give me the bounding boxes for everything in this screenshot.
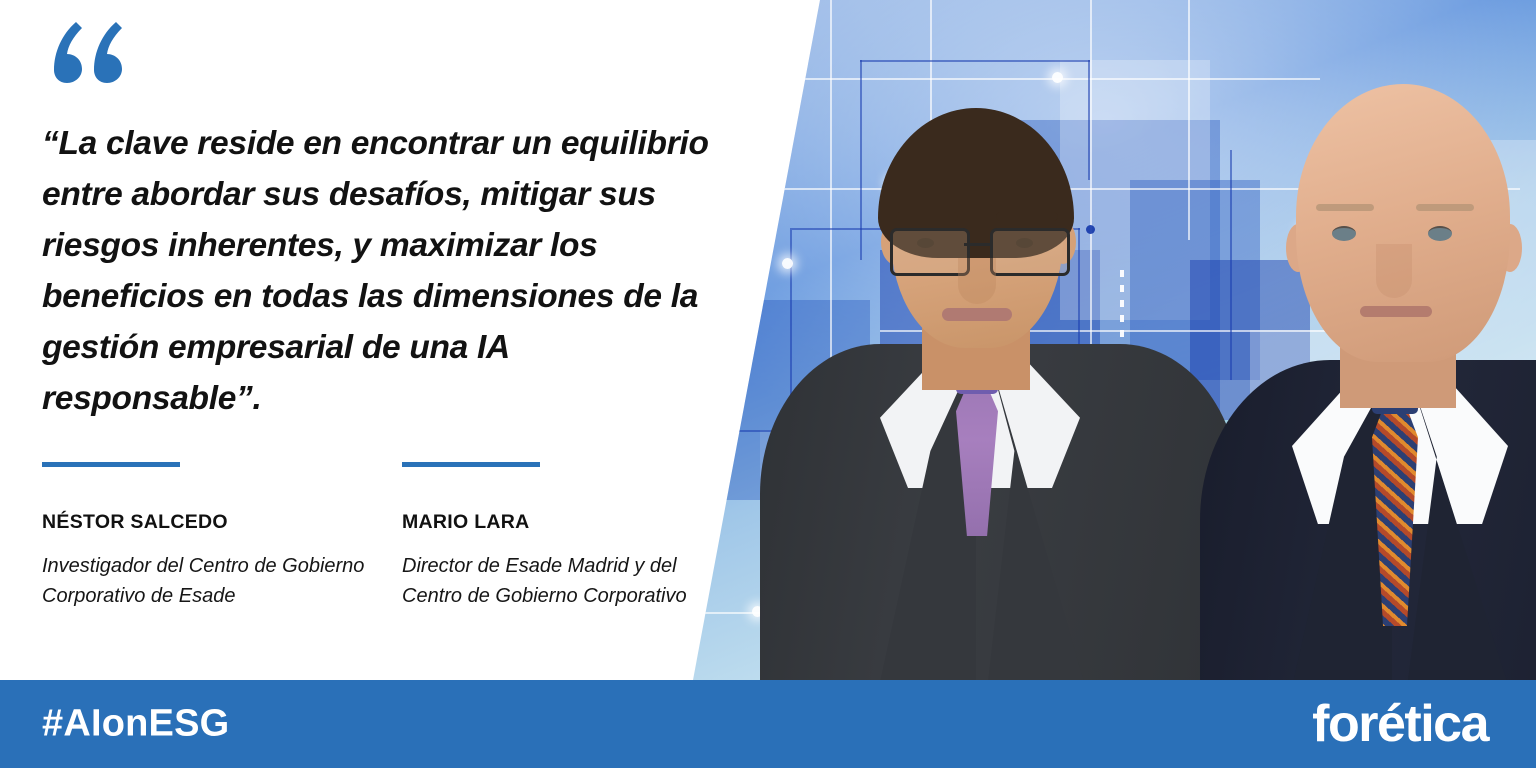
- glasses-bridge: [964, 243, 990, 246]
- eyebrow-left: [896, 212, 958, 221]
- eye-left: [1332, 226, 1356, 241]
- man-right-portrait: [1200, 84, 1536, 680]
- nose: [1376, 244, 1412, 298]
- attribution-person-2: MARIO LARA Director de Esade Madrid y de…: [402, 462, 722, 611]
- person-role: Director de Esade Madrid y del Centro de…: [402, 551, 722, 611]
- person-role: Investigador del Centro de Gobierno Corp…: [42, 551, 402, 611]
- bg-line: [860, 60, 1090, 62]
- mouth: [942, 308, 1012, 321]
- footer-bar: #AIonESG forética: [0, 680, 1536, 768]
- eyebrow-right: [996, 212, 1058, 221]
- person-name: MARIO LARA: [402, 511, 722, 534]
- eyebrow-left: [1316, 204, 1374, 211]
- accent-rule: [42, 462, 180, 467]
- bg-node: [1052, 72, 1063, 83]
- eyebrow-right: [1416, 204, 1474, 211]
- attribution-person-1: NÉSTOR SALCEDO Investigador del Centro d…: [42, 462, 402, 611]
- text-column: “La clave reside en encontrar un equilib…: [0, 0, 760, 680]
- accent-rule: [402, 462, 540, 467]
- head: [1296, 84, 1510, 362]
- quote-text: “La clave reside en encontrar un equilib…: [42, 118, 732, 424]
- bg-line: [700, 78, 1320, 80]
- nose: [958, 258, 996, 304]
- man-left-portrait: [760, 108, 1240, 680]
- lens-right: [990, 228, 1070, 276]
- person-name: NÉSTOR SALCEDO: [42, 511, 402, 534]
- foretica-logo: forética: [1312, 694, 1488, 754]
- quote-card: “La clave reside en encontrar un equilib…: [0, 0, 1536, 768]
- campaign-hashtag: #AIonESG: [42, 703, 229, 746]
- attribution-group: NÉSTOR SALCEDO Investigador del Centro d…: [42, 462, 742, 611]
- mouth: [1360, 306, 1432, 317]
- eye-right: [1428, 226, 1452, 241]
- quotation-mark-icon: [42, 12, 132, 102]
